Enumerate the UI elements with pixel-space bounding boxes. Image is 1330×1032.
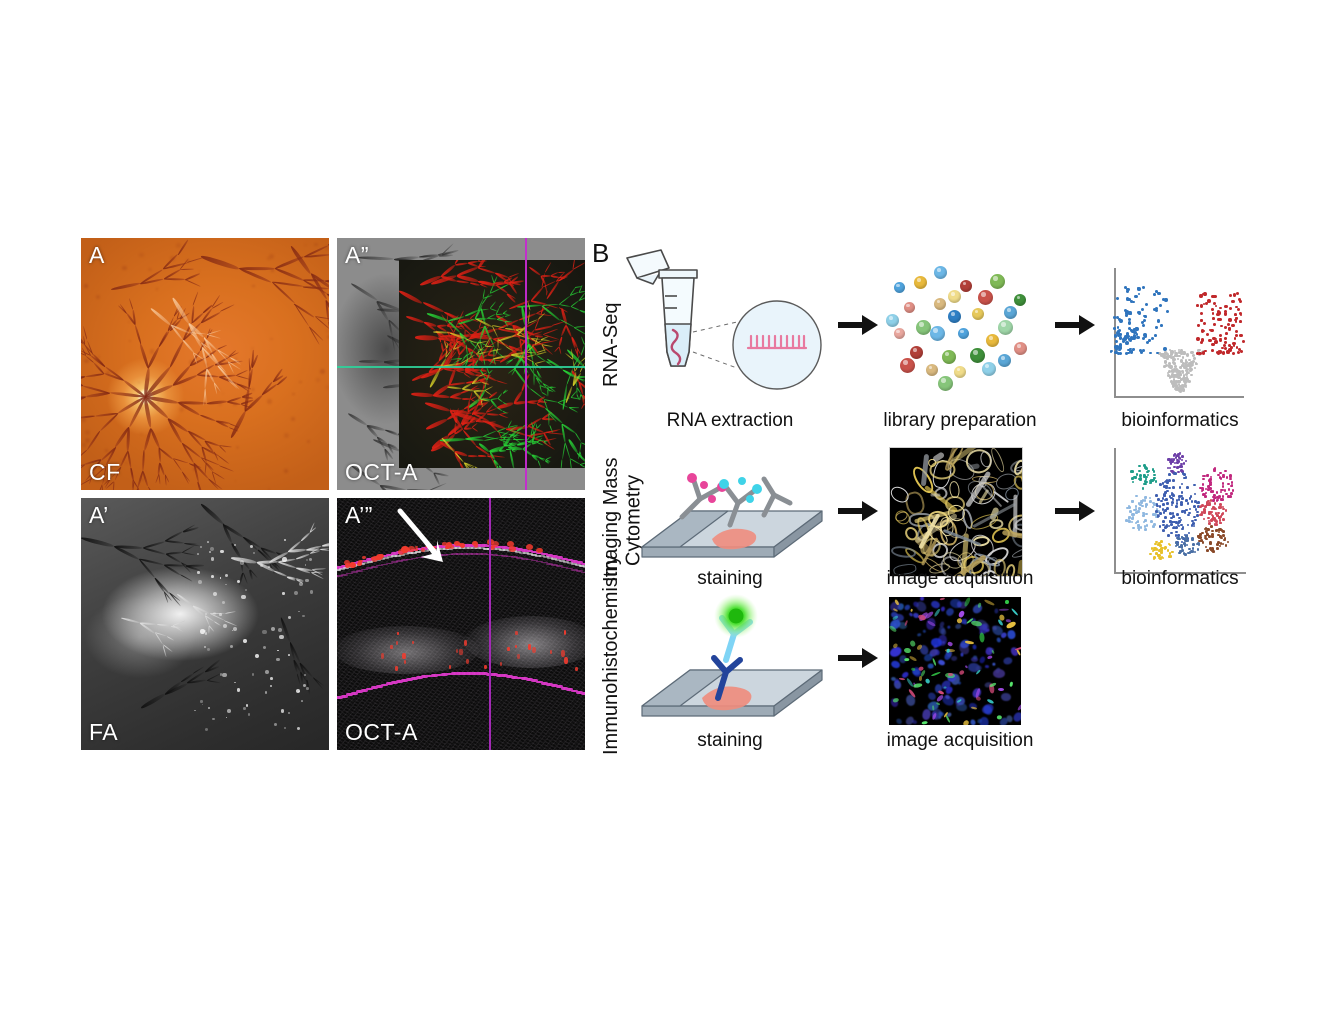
data-point <box>1194 493 1197 496</box>
data-point <box>1146 524 1149 527</box>
data-point <box>1217 352 1220 355</box>
data-point <box>1174 365 1177 368</box>
data-point <box>1160 324 1163 327</box>
data-point <box>1192 543 1195 546</box>
tissue-strand <box>1013 495 1017 538</box>
data-point <box>1159 525 1162 528</box>
data-point <box>1233 344 1235 346</box>
data-point <box>1211 530 1214 533</box>
data-point <box>1228 488 1231 491</box>
data-point <box>1116 331 1120 335</box>
bead <box>934 266 947 279</box>
data-point <box>1113 327 1116 330</box>
fluorescent-marker <box>1006 621 1017 630</box>
arrow-right-icon-row2-a <box>838 498 878 524</box>
nucleus <box>971 657 978 662</box>
data-point <box>1213 517 1216 520</box>
fluorescent-marker <box>1005 600 1009 604</box>
data-point <box>1171 369 1173 371</box>
data-point <box>1132 336 1136 340</box>
data-point <box>1229 495 1232 498</box>
modality-label-octa-bscan: OCT-A <box>345 721 418 744</box>
data-point <box>1232 489 1235 492</box>
data-point <box>1234 337 1237 340</box>
data-point <box>1239 334 1243 338</box>
data-point <box>1204 495 1207 498</box>
data-point <box>1128 318 1131 321</box>
data-point <box>1152 525 1155 528</box>
data-point <box>1170 523 1173 526</box>
bead <box>930 326 945 341</box>
fluorescent-marker <box>991 650 994 654</box>
fa-background <box>81 498 329 750</box>
fluorescent-marker <box>971 706 977 710</box>
ihc-acquired-image <box>889 597 1021 725</box>
data-point <box>1188 380 1191 383</box>
data-point <box>1164 298 1167 301</box>
data-point <box>1211 508 1214 511</box>
data-point <box>1160 500 1163 503</box>
data-point <box>1211 533 1214 536</box>
data-point <box>1235 317 1238 320</box>
stage-label-bioinformatics-rnaseq: bioinformatics <box>1070 410 1290 432</box>
data-point <box>1219 506 1222 509</box>
data-point <box>1213 507 1216 510</box>
data-point <box>1150 520 1153 523</box>
data-point <box>1162 503 1165 506</box>
data-point <box>1143 474 1146 477</box>
data-point <box>1164 546 1167 549</box>
nucleus <box>923 629 927 633</box>
data-point <box>1126 288 1129 291</box>
data-point <box>1167 534 1170 537</box>
data-point <box>1187 524 1190 527</box>
data-point <box>1174 354 1177 357</box>
data-point <box>1138 311 1141 314</box>
data-point <box>1229 294 1232 297</box>
fluorescent-marker <box>948 673 953 676</box>
data-point <box>1162 529 1165 532</box>
data-point <box>1206 502 1209 505</box>
data-point <box>1219 339 1222 342</box>
data-point <box>1125 352 1128 355</box>
data-point <box>1227 323 1230 326</box>
data-point <box>1147 470 1150 473</box>
fluorescent-marker <box>904 658 910 661</box>
data-point <box>1145 513 1148 516</box>
fluorescent-marker <box>931 671 941 676</box>
data-point <box>1116 297 1119 300</box>
data-point <box>1190 351 1193 354</box>
data-point <box>1194 500 1197 503</box>
data-point <box>1222 543 1225 546</box>
bead <box>904 302 915 313</box>
data-point <box>1208 503 1211 506</box>
data-point <box>1173 384 1176 387</box>
data-point <box>1187 502 1190 505</box>
data-point <box>1168 458 1171 461</box>
data-point <box>1169 544 1172 547</box>
fluorescent-marker <box>1010 608 1018 617</box>
data-point <box>1224 337 1227 340</box>
data-point <box>1222 530 1225 533</box>
stage-label-library-preparation: library preparation <box>830 410 1090 432</box>
bscan-pointer-arrow-icon <box>397 510 449 568</box>
data-point <box>1214 502 1217 505</box>
data-point <box>1125 341 1129 345</box>
bead <box>948 290 961 303</box>
tsne-cluster-plot <box>1114 448 1246 574</box>
nucleus <box>960 653 963 657</box>
data-point <box>1175 531 1178 534</box>
data-point <box>1132 481 1135 484</box>
data-point <box>1155 307 1158 310</box>
data-point <box>1178 460 1181 463</box>
volcano-plot <box>1114 268 1244 398</box>
data-point <box>1157 319 1161 323</box>
data-point <box>1217 512 1220 515</box>
data-point <box>1183 462 1186 465</box>
data-point <box>1239 300 1242 303</box>
data-point <box>1170 517 1173 520</box>
data-point <box>1138 470 1141 473</box>
data-point <box>1224 489 1227 492</box>
data-point <box>1173 378 1175 380</box>
fluorescent-marker <box>1006 619 1011 622</box>
fluorescent-marker <box>904 619 908 625</box>
data-point <box>1159 512 1162 515</box>
data-point <box>1199 536 1202 539</box>
data-point <box>1168 355 1171 358</box>
nucleus <box>993 669 1005 679</box>
data-point <box>1225 332 1228 335</box>
data-point <box>1180 501 1183 504</box>
data-point <box>1139 474 1142 477</box>
data-point <box>1170 350 1173 353</box>
data-point <box>1219 522 1222 525</box>
data-point <box>1131 470 1134 473</box>
data-point <box>1227 483 1230 486</box>
fluorescent-marker <box>979 632 985 642</box>
data-point <box>1182 356 1184 358</box>
data-point <box>1128 321 1131 324</box>
data-point <box>1235 306 1238 309</box>
stage-label-ihc-image-acquisition: image acquisition <box>830 730 1090 752</box>
data-point <box>1229 307 1232 310</box>
data-point <box>1211 308 1214 311</box>
nucleus <box>937 659 945 666</box>
fluorescent-marker <box>1017 702 1021 711</box>
data-point <box>1222 485 1225 488</box>
data-point <box>1162 520 1165 523</box>
data-point <box>1145 303 1148 306</box>
bead <box>934 298 946 310</box>
data-point <box>1157 498 1160 501</box>
bead <box>942 350 956 364</box>
data-point <box>1185 380 1188 383</box>
data-point <box>1129 510 1132 513</box>
data-point <box>1154 543 1157 546</box>
data-point <box>1144 528 1147 531</box>
data-point <box>1154 334 1157 337</box>
arrow-right-icon-row2-b <box>1055 498 1095 524</box>
data-point <box>1149 497 1152 500</box>
data-point <box>1186 486 1189 489</box>
data-point <box>1145 503 1148 506</box>
arrow-right-icon-row1-a <box>838 312 878 338</box>
fluorescent-marker <box>963 719 971 725</box>
data-point <box>1237 308 1240 311</box>
data-point <box>1214 467 1217 470</box>
data-point <box>1190 550 1193 553</box>
fluorescent-marker <box>903 647 911 653</box>
data-point <box>1172 512 1175 515</box>
data-point <box>1163 347 1167 351</box>
fluorescent-marker <box>924 678 930 684</box>
data-point <box>1169 512 1172 515</box>
data-point <box>1182 389 1184 391</box>
panel-divider <box>588 238 590 750</box>
data-point <box>1215 305 1218 308</box>
fluorescent-marker <box>899 678 905 681</box>
stage-label-ihc-staining: staining <box>600 730 860 752</box>
data-point <box>1190 374 1192 376</box>
data-point <box>1151 337 1154 340</box>
data-point <box>1144 519 1147 522</box>
data-point <box>1208 512 1211 515</box>
data-point <box>1222 351 1225 354</box>
fluorescent-marker <box>999 608 1009 610</box>
data-point <box>1175 369 1178 372</box>
bead <box>916 320 931 335</box>
stage-label-bioinformatics-imc: bioinformatics <box>1070 568 1290 590</box>
data-point <box>1164 516 1167 519</box>
data-point <box>1138 507 1141 510</box>
crosshair-horizontal-icon <box>337 366 585 368</box>
data-point <box>1189 508 1192 511</box>
data-point <box>1149 553 1152 556</box>
data-point <box>1201 329 1204 332</box>
data-point <box>1181 510 1184 513</box>
data-point <box>1157 292 1160 295</box>
data-point <box>1205 302 1208 305</box>
data-point <box>1175 521 1178 524</box>
data-point <box>1214 340 1217 343</box>
data-point <box>1220 477 1223 480</box>
fluorescent-marker <box>959 670 965 676</box>
data-point <box>1181 455 1184 458</box>
data-point <box>1178 355 1180 357</box>
fluorescent-marker <box>913 684 923 689</box>
data-point <box>1168 487 1171 490</box>
data-point <box>1222 475 1225 478</box>
data-point <box>1132 516 1135 519</box>
data-point <box>1188 512 1191 515</box>
data-point <box>1153 474 1156 477</box>
figure-canvas: A CF A” OCT-A A’ FA <box>0 0 1330 1032</box>
fluorescent-marker <box>984 599 995 606</box>
data-point <box>1206 474 1209 477</box>
data-point <box>1166 310 1169 313</box>
data-point <box>1195 508 1198 511</box>
fluorescent-marker <box>919 676 922 681</box>
data-point <box>1175 505 1178 508</box>
bead <box>998 320 1013 335</box>
tsne-points <box>1114 448 1246 574</box>
data-point <box>1216 547 1219 550</box>
data-point <box>1199 514 1202 517</box>
data-point <box>1193 484 1196 487</box>
eppendorf-tube-icon <box>615 248 825 408</box>
data-point <box>1164 526 1167 529</box>
data-point <box>1224 305 1227 308</box>
nucleus <box>1002 656 1013 665</box>
data-point <box>1198 352 1201 355</box>
data-point <box>1227 541 1230 544</box>
panel-tag-b: B <box>592 240 609 266</box>
data-point <box>1119 352 1122 355</box>
arrow-right-icon-row1-b <box>1055 312 1095 338</box>
fluorescent-marker <box>987 655 993 659</box>
data-point <box>1197 548 1200 551</box>
data-point <box>1216 543 1219 546</box>
fluorescent-marker <box>933 608 940 617</box>
bead <box>970 348 985 363</box>
nucleus <box>1000 692 1010 700</box>
data-point <box>1166 507 1169 510</box>
stage-label-imc-staining: staining <box>600 568 860 590</box>
bead <box>948 310 961 323</box>
nucleus <box>917 632 922 636</box>
data-point <box>1207 528 1210 531</box>
data-point <box>1224 537 1227 540</box>
bead <box>972 308 984 320</box>
data-point <box>1171 493 1174 496</box>
panel-a1-fluorescein-angiography: A’ FA <box>81 498 329 750</box>
nucleus <box>1007 629 1016 640</box>
data-point <box>1203 292 1207 296</box>
data-point <box>1204 350 1207 353</box>
data-point <box>1221 498 1224 501</box>
ihc-slide-icon <box>630 598 830 738</box>
modality-label-cf: CF <box>89 461 121 484</box>
data-point <box>1181 491 1184 494</box>
nucleus <box>992 662 996 665</box>
data-point <box>1160 551 1163 554</box>
data-point <box>1196 511 1199 514</box>
data-point <box>1138 465 1141 468</box>
data-point <box>1159 505 1162 508</box>
nucleus <box>994 608 998 613</box>
data-point <box>1211 511 1214 514</box>
data-point <box>1126 332 1129 335</box>
data-point <box>1141 308 1144 311</box>
bead <box>894 328 905 339</box>
nucleus <box>954 623 961 630</box>
data-point <box>1179 465 1182 468</box>
data-point <box>1239 312 1242 315</box>
data-point <box>1203 475 1206 478</box>
arrow-right-icon-row3 <box>838 645 878 671</box>
data-point <box>1154 547 1157 550</box>
nucleus <box>1000 632 1007 639</box>
fluorescent-marker <box>940 597 945 600</box>
data-point <box>1181 528 1184 531</box>
nucleus <box>979 717 988 725</box>
data-point <box>1190 364 1193 367</box>
data-point <box>1190 495 1193 498</box>
fluorescent-marker <box>909 656 917 663</box>
data-point <box>1153 293 1156 296</box>
data-point <box>1208 535 1211 538</box>
bead <box>960 280 972 292</box>
data-point <box>1171 504 1174 507</box>
data-point <box>1215 523 1218 526</box>
bead <box>958 328 969 339</box>
data-point <box>1236 292 1239 295</box>
imc-slide-icon <box>630 455 830 575</box>
data-point <box>1175 526 1178 529</box>
data-point <box>1191 537 1194 540</box>
data-point <box>1219 307 1222 310</box>
fluorescent-marker <box>921 720 927 724</box>
data-point <box>1142 488 1145 491</box>
data-point <box>1185 386 1187 388</box>
data-point <box>1225 544 1228 547</box>
data-point <box>1155 510 1158 513</box>
data-point <box>1219 545 1222 548</box>
data-point <box>1180 545 1183 548</box>
data-point <box>1118 349 1120 351</box>
data-point <box>1212 317 1215 320</box>
modality-label-octa-enface: OCT-A <box>345 461 418 484</box>
data-point <box>1224 326 1227 329</box>
tissue-strand <box>930 493 941 497</box>
data-point <box>1115 340 1118 343</box>
data-point <box>1153 556 1156 559</box>
data-point <box>1219 472 1222 475</box>
crosshair-vertical-icon <box>525 238 527 490</box>
data-point <box>1196 304 1199 307</box>
bead <box>900 358 915 373</box>
data-point <box>1239 320 1242 323</box>
data-point <box>1155 494 1158 497</box>
data-point <box>1177 471 1180 474</box>
data-point <box>1130 313 1133 316</box>
data-point <box>1185 359 1187 361</box>
data-point <box>1203 518 1206 521</box>
data-point <box>1172 479 1175 482</box>
nucleus <box>895 718 903 725</box>
data-point <box>1130 350 1134 354</box>
data-point <box>1194 367 1196 369</box>
data-point <box>1173 454 1176 457</box>
data-point <box>1184 544 1187 547</box>
data-point <box>1114 334 1117 337</box>
nucleus <box>945 607 955 617</box>
data-point <box>1197 324 1199 326</box>
tissue-structure <box>890 544 917 558</box>
data-point <box>1208 339 1212 343</box>
nucleus <box>951 656 957 661</box>
data-point <box>1212 312 1215 315</box>
bead <box>910 346 923 359</box>
data-point <box>1180 366 1182 368</box>
data-point <box>1220 325 1223 328</box>
data-point <box>1228 344 1231 347</box>
data-point <box>1143 483 1146 486</box>
data-point <box>1200 341 1203 344</box>
